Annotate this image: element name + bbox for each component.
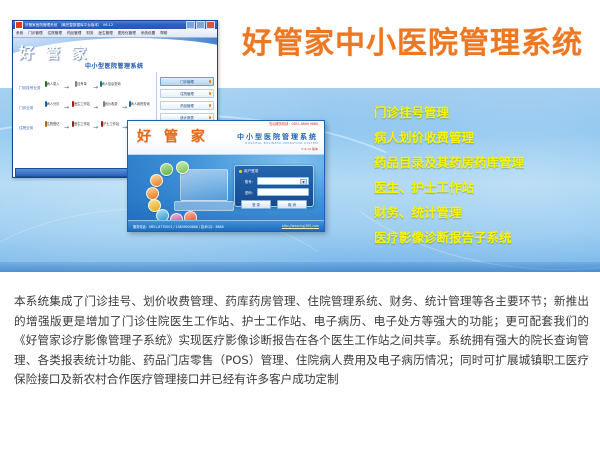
account-label: 账号： [239,179,255,184]
account-input[interactable]: ▼ [257,177,309,185]
workflow-node[interactable]: 医生工作站 [70,101,92,106]
login-account-row: 账号： ▼ [239,177,309,185]
workflow-node[interactable]: 住院登记 [41,121,63,126]
arrow-right-icon: → [92,121,99,132]
menu-item-finance[interactable]: 财务 [86,31,93,36]
workflow-node[interactable]: 挂号单 [70,81,92,86]
gear-icon [184,211,197,220]
arrow-right-icon: → [63,101,70,112]
workflow-node-label: 住院登记 [47,122,60,126]
banner-bottom-edge [0,262,600,272]
workflow-node[interactable]: 医生工作站 [70,121,92,126]
workflow-node-label: 病人分诊 [47,102,60,106]
menu-item-doctor[interactable]: 医生管理 [99,31,113,36]
main-window-titlebar: 好管家医院管理系统 （最完整数据库平台版本） V6.12 [13,21,217,29]
login-brand: 好 管 家 [137,126,209,146]
workflow-node-label: 医生工作站 [74,122,90,126]
side-button-drugs[interactable]: 药品管理 [160,101,214,110]
feature-item-6: 医疗影像诊断报告子系统 [374,225,600,250]
workflow-node[interactable]: 病人分诊 [41,101,63,106]
workflow-node-label: 护士工作站 [103,122,119,126]
workflow-node[interactable]: 病人用药查询 [128,101,150,106]
bullet-icon [209,116,212,119]
page-title: 好管家中小医院管理系统 [242,18,583,62]
login-header: 好 管 家 售后服务热线：0851-8889 9888 中小型医院管理系统 HO… [128,121,324,155]
workflow-node[interactable]: 病人录入 [41,81,63,86]
workflow-node-label: 医生工作站 [74,102,90,106]
user-icon [150,174,163,187]
bubble-icon-cluster [142,161,198,219]
heart-icon [170,213,183,220]
menu-item-inpatient[interactable]: 住院管理 [48,31,62,36]
workflow-row-label: 门诊挂号业务 [19,81,41,91]
login-version: V 6.12 版本 [301,147,318,151]
main-window-subtitle: 中小型医院管理系统 [85,61,144,70]
login-button[interactable]: 登 录 [241,200,271,209]
workflow-row-label: 住院业务 [19,121,41,131]
app-icon [15,21,23,29]
minimize-button[interactable] [186,21,195,29]
window-controls[interactable] [186,21,215,29]
workflow-row-registration: 门诊挂号业务 病人录入 → 挂号单 → 病人信息查询 [19,81,156,92]
mail-icon [146,187,159,200]
login-footer-contact: 服务电话：0851-8770001 / 13809000888 / 技术QQ：8… [133,224,224,229]
workflow-node[interactable]: 护士工作站 [99,121,121,126]
workflow-node-label: 划价收费 [105,102,118,106]
leaf-icon [176,161,189,174]
main-window-menubar[interactable]: 系统 门诊管理 住院管理 药品管理 财务 医生管理 图形化管理 系统设置 帮助 [13,29,217,38]
side-button-inpatient[interactable]: 住院管理 [160,89,214,98]
main-window-hero: 好 管 家 中小型医院管理系统 [13,38,217,72]
login-panel-title-text: 用户登录 [244,169,258,174]
chart-icon [156,209,169,220]
menu-item-help[interactable]: 帮助 [160,31,167,36]
workflow-row-outpatient: 门诊业务 病人分诊 → 医生工作站 → 划价收费 → 病人 [19,101,156,112]
feature-item-1: 门诊挂号管理 [374,100,600,125]
arrow-right-icon: → [63,81,70,92]
feature-item-3: 药品目录及其药房药库管理 [374,150,600,175]
arrow-right-icon: → [121,101,128,112]
bullet-icon [209,92,212,95]
feature-list: 门诊挂号管理 病人划价收费管理 药品目录及其药房药库管理 医生、护士工作站 财务… [374,100,600,250]
workflow-node-label: 病人用药查询 [131,102,150,106]
arrow-right-icon: → [63,121,70,132]
login-buttons: 登 录 取 消 [239,200,309,209]
login-panel[interactable]: 用户登录 账号： ▼ 密码： 登 录 取 消 [234,165,314,207]
side-button-label: 门诊管理 [180,79,194,84]
login-panel-title: 用户登录 [239,169,309,174]
chevron-down-icon[interactable]: ▼ [300,179,307,185]
login-footer: 服务电话：0851-8770001 / 13809000888 / 技术QQ：8… [128,220,324,231]
menu-item-graphics[interactable]: 图形化管理 [118,31,136,36]
menu-item-outpatient[interactable]: 门诊管理 [28,31,42,36]
leaf-icon [160,163,173,176]
workflow-row-label: 门诊业务 [19,101,41,111]
main-window-title: 好管家医院管理系统 （最完整数据库平台版本） V6.12 [25,23,186,28]
bullet-icon [209,80,212,83]
workflow-node-label: 病人信息查询 [102,82,121,86]
workflow-node[interactable]: 划价收费 [99,101,121,106]
arrow-right-icon: → [92,81,99,92]
main-window-brand: 好 管 家 [19,42,89,63]
password-label: 密码： [239,190,255,195]
login-body: 用户登录 账号： ▼ 密码： 登 录 取 消 [128,155,324,220]
workflow-node-label: 病人录入 [47,82,60,86]
login-password-row: 密码： [239,188,309,196]
feature-item-5: 财务、统计管理 [374,200,600,225]
workflow-node-label: 挂号单 [77,82,87,86]
login-en-title: HOSPITAL BUSINESS OPERATION SYSTEM [245,141,318,145]
login-footer-url[interactable]: http://www.hgj365.com [282,224,319,228]
password-input[interactable] [257,188,309,196]
screenshot-login-window[interactable]: 好 管 家 售后服务热线：0851-8889 9888 中小型医院管理系统 HO… [127,120,325,232]
side-button-label: 药品管理 [180,103,194,108]
arrow-right-icon: → [92,101,99,112]
feature-item-4: 医生、护士工作站 [374,175,600,200]
side-button-label: 住院管理 [180,91,194,96]
menu-item-system[interactable]: 系统 [16,31,23,36]
feature-item-2: 病人划价收费管理 [374,125,600,150]
menu-item-settings[interactable]: 系统设置 [141,31,155,36]
login-hotline: 售后服务热线：0851-8889 9888 [269,121,318,126]
side-button-outpatient[interactable]: 门诊管理 [160,77,214,86]
workflow-node[interactable]: 病人信息查询 [99,81,121,86]
menu-item-drugs[interactable]: 药品管理 [67,31,81,36]
cancel-button[interactable]: 取 消 [277,200,307,209]
close-button[interactable] [206,21,215,29]
description-paragraph: 本系统集成了门诊挂号、划价收费管理、药库药房管理、住院管理系统、财务、统计管理等… [14,292,589,390]
bullet-icon [239,170,242,173]
maximize-button[interactable] [196,21,205,29]
bullet-icon [209,104,212,107]
